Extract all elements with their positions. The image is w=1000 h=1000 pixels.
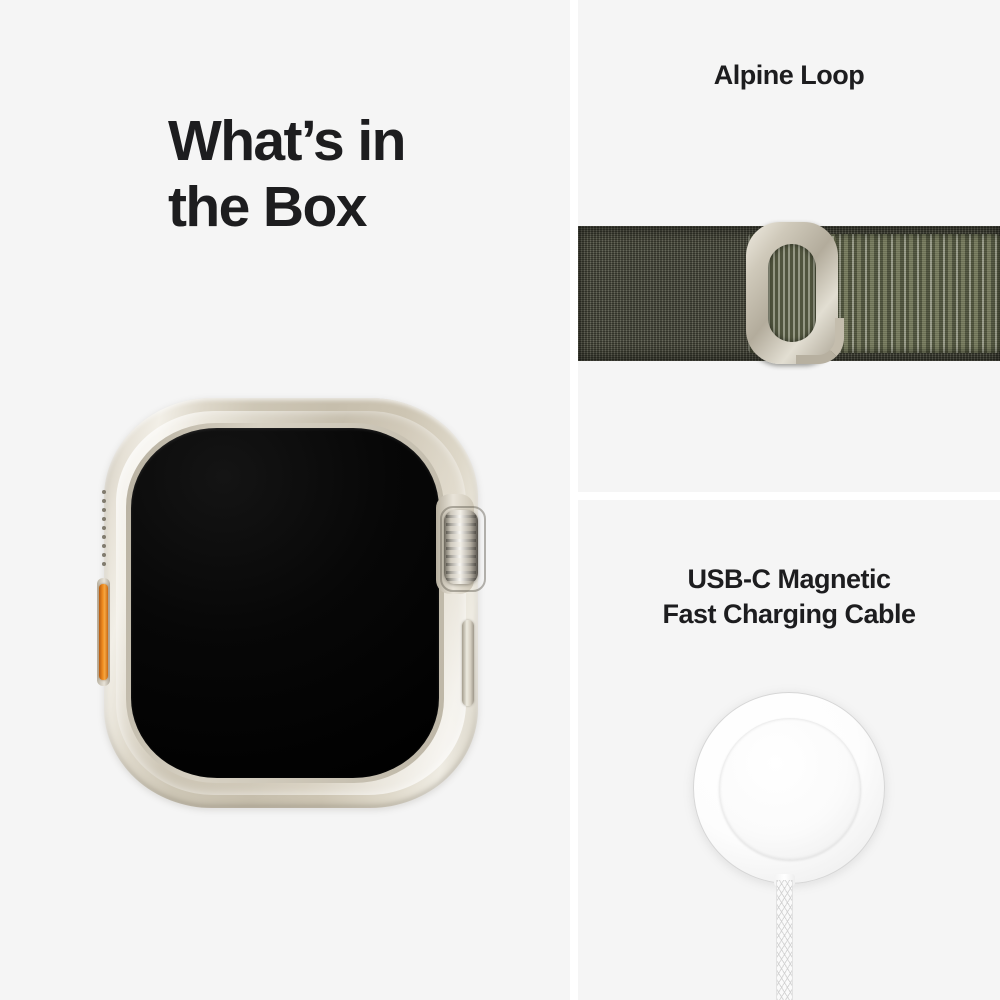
g-hook-tail xyxy=(796,318,844,364)
braided-cable xyxy=(776,880,793,1000)
alpine-loop-panel: Alpine Loop xyxy=(578,0,1000,492)
alpine-loop-band-image xyxy=(578,226,1000,361)
g-hook-buckle xyxy=(746,222,838,364)
watch-panel: What’s in the Box xyxy=(0,0,570,1000)
headline-line-1: What’s in xyxy=(168,109,405,173)
side-button xyxy=(462,620,474,706)
magnetic-charger-image xyxy=(578,500,1000,1000)
headline-line-2: the Box xyxy=(168,174,528,240)
charging-cable-panel: USB-C Magnetic Fast Charging Cable xyxy=(578,500,1000,1000)
charging-puck-inner-ring xyxy=(719,718,861,860)
charging-puck xyxy=(693,692,885,884)
page-title: What’s in the Box xyxy=(168,108,528,240)
action-button xyxy=(99,584,108,680)
digital-crown-guard xyxy=(440,506,486,592)
product-image-stage: What’s in the Box xyxy=(0,0,1000,1000)
watch-display xyxy=(131,428,439,778)
apple-watch-ultra-image xyxy=(104,398,478,808)
speaker-grille xyxy=(102,490,107,568)
band-title: Alpine Loop xyxy=(578,58,1000,93)
